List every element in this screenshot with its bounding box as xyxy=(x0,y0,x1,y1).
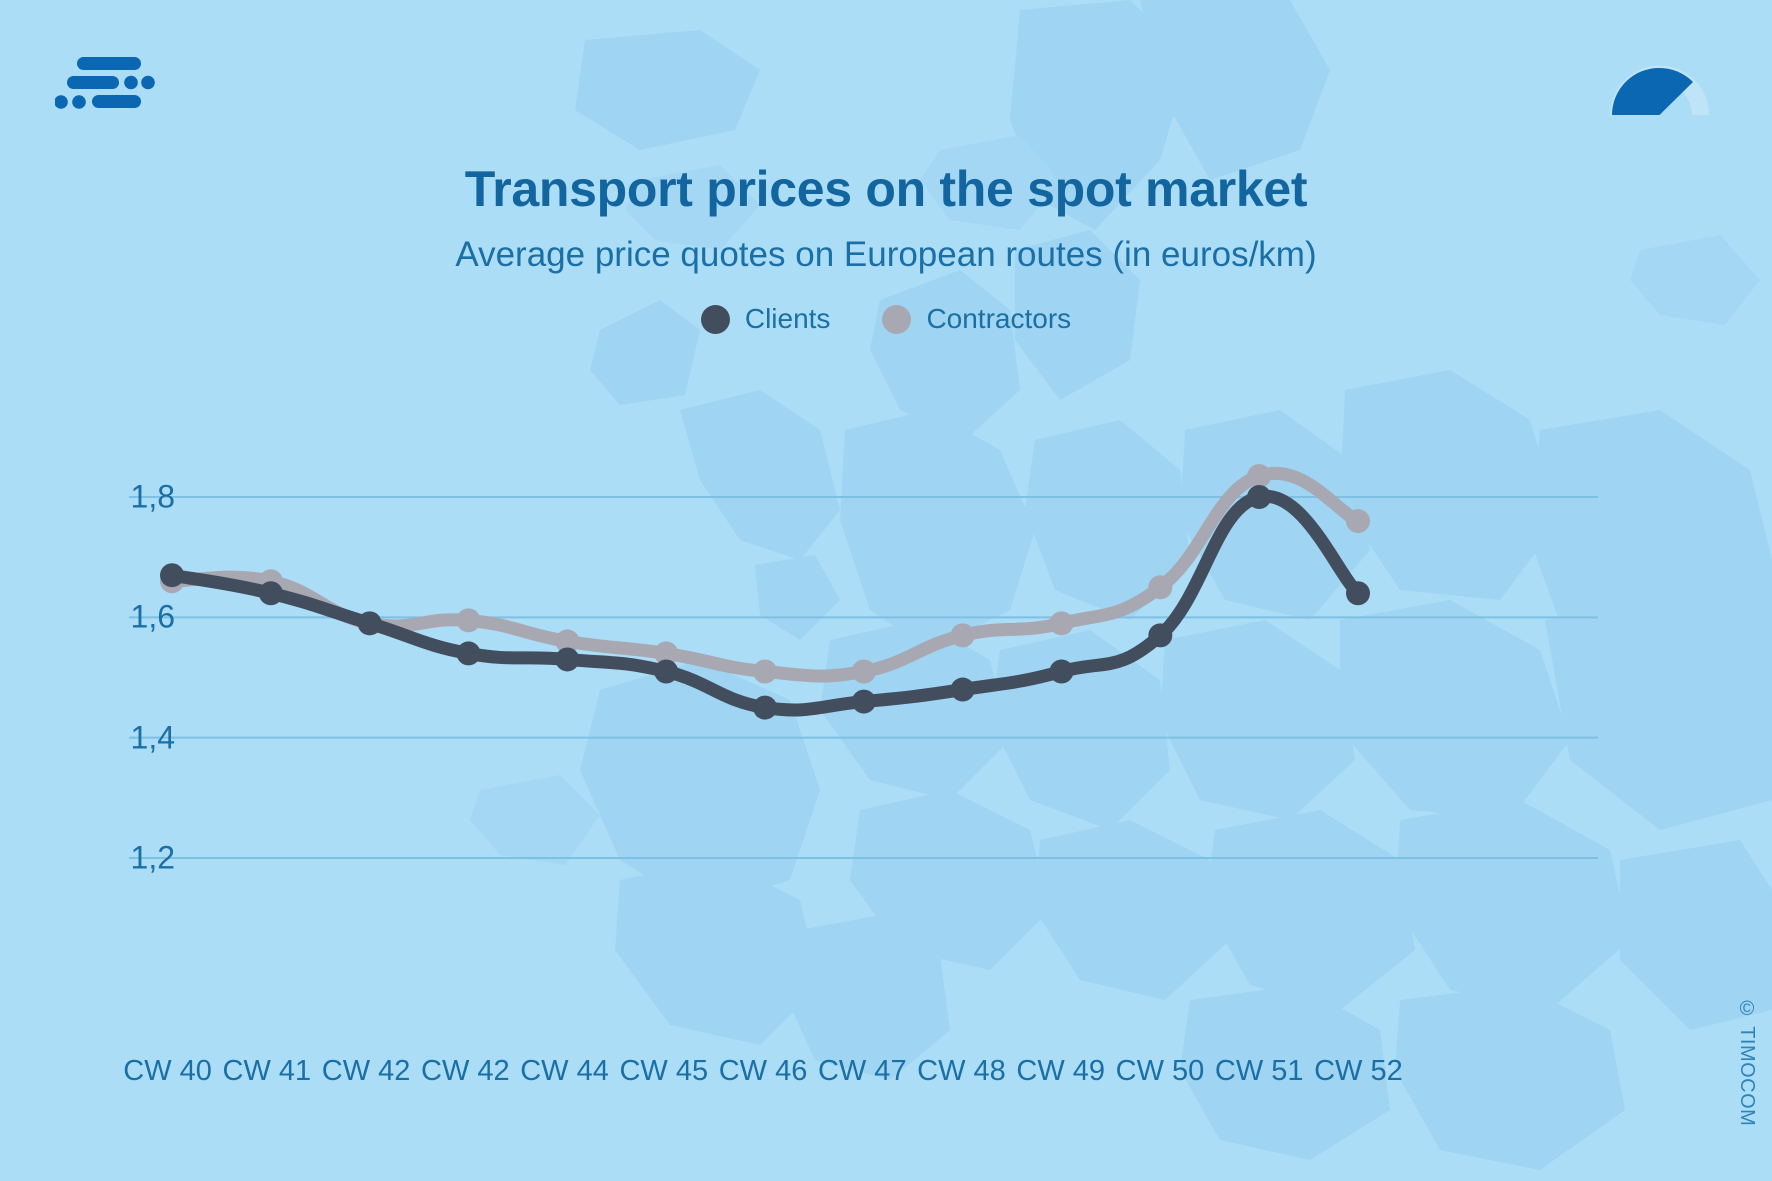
data-point-marker[interactable] xyxy=(555,647,579,671)
data-point-marker[interactable] xyxy=(1050,611,1074,635)
y-axis-tick: 1,6 xyxy=(55,599,175,636)
data-point-marker[interactable] xyxy=(951,623,975,647)
x-axis-tick: CW 46 xyxy=(713,1055,812,1088)
data-point-marker[interactable] xyxy=(1247,464,1271,488)
data-point-marker[interactable] xyxy=(1346,509,1370,533)
chart-legend: Clients Contractors xyxy=(0,303,1772,335)
x-axis-tick: CW 45 xyxy=(614,1055,713,1088)
data-point-marker[interactable] xyxy=(654,659,678,683)
x-axis-tick: CW 48 xyxy=(912,1055,1011,1088)
copyright-label: © TIMOCOM xyxy=(1735,998,1758,1126)
data-point-marker[interactable] xyxy=(852,690,876,714)
x-axis-tick: CW 41 xyxy=(217,1055,316,1088)
series-clients xyxy=(160,485,1370,720)
data-point-marker[interactable] xyxy=(259,581,283,605)
data-point-marker[interactable] xyxy=(1346,581,1370,605)
legend-dot-contractors xyxy=(882,305,911,334)
page-subtitle: Average price quotes on European routes … xyxy=(0,235,1772,275)
data-point-marker[interactable] xyxy=(753,659,777,683)
legend-item-clients[interactable]: Clients xyxy=(701,303,831,335)
x-axis-tick: CW 42 xyxy=(416,1055,515,1088)
data-point-marker[interactable] xyxy=(1247,485,1271,509)
legend-label-contractors: Contractors xyxy=(926,303,1071,335)
x-axis-tick: CW 51 xyxy=(1210,1055,1309,1088)
data-point-marker[interactable] xyxy=(358,611,382,635)
gauge-logo xyxy=(1607,55,1712,117)
data-point-marker[interactable] xyxy=(457,608,481,632)
data-point-marker[interactable] xyxy=(852,659,876,683)
data-point-marker[interactable] xyxy=(457,641,481,665)
x-axis-tick: CW 44 xyxy=(515,1055,614,1088)
legend-label-clients: Clients xyxy=(745,303,831,335)
legend-item-contractors[interactable]: Contractors xyxy=(882,303,1071,335)
y-axis: 1,81,61,41,2 xyxy=(55,0,175,1181)
data-point-marker[interactable] xyxy=(1148,623,1172,647)
x-axis-tick: CW 47 xyxy=(813,1055,912,1088)
data-point-marker[interactable] xyxy=(1050,659,1074,683)
page-title: Transport prices on the spot market xyxy=(0,160,1772,218)
data-point-marker[interactable] xyxy=(951,678,975,702)
data-point-marker[interactable] xyxy=(753,696,777,720)
x-axis-tick: CW 42 xyxy=(316,1055,415,1088)
y-axis-tick: 1,2 xyxy=(55,840,175,877)
y-axis-tick: 1,8 xyxy=(55,479,175,516)
x-axis-tick: CW 52 xyxy=(1309,1055,1408,1088)
x-axis: CW 40CW 41CW 42CW 42CW 44CW 45CW 46CW 47… xyxy=(118,1055,1408,1088)
legend-dot-clients xyxy=(701,305,730,334)
x-axis-tick: CW 40 xyxy=(118,1055,217,1088)
series-line xyxy=(172,473,1358,676)
x-axis-tick: CW 50 xyxy=(1110,1055,1209,1088)
data-point-marker[interactable] xyxy=(1148,575,1172,599)
y-axis-tick: 1,4 xyxy=(55,719,175,756)
x-axis-tick: CW 49 xyxy=(1011,1055,1110,1088)
